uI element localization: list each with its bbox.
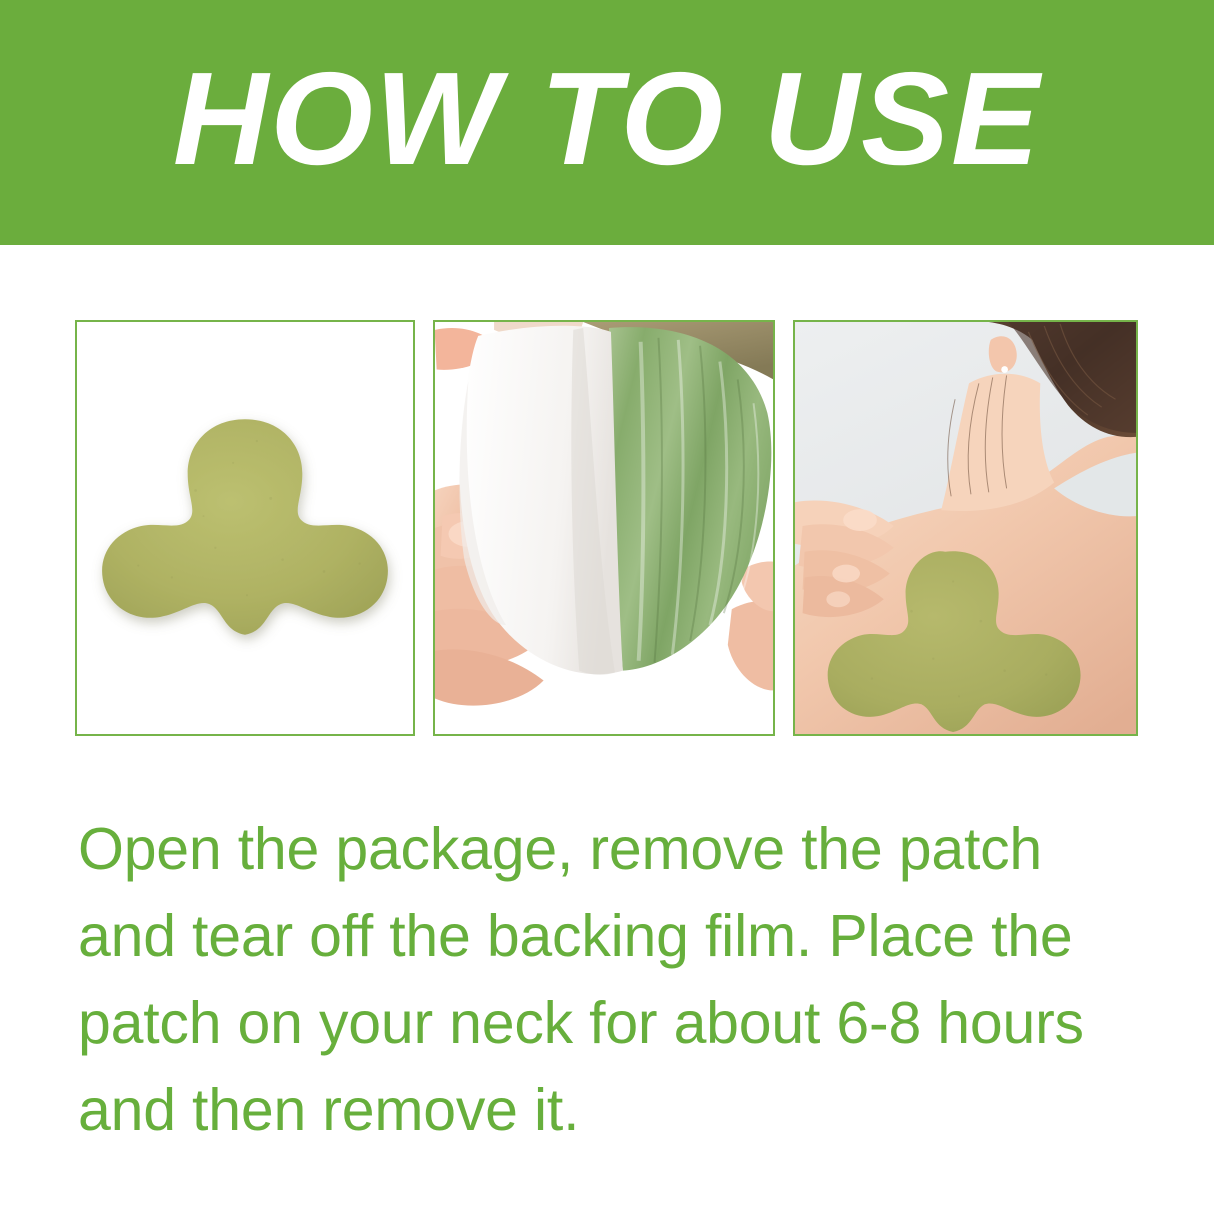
patch-product-image <box>77 322 413 734</box>
how-to-use-page: HOW TO USE <box>0 0 1214 1214</box>
instruction-panels <box>75 320 1138 736</box>
instruction-text: Open the package, remove the patch and t… <box>78 806 1138 1154</box>
patch-on-neck-image <box>795 322 1136 734</box>
panel-patch-applied-to-neck <box>793 320 1138 736</box>
peeling-film-image <box>435 322 773 734</box>
header-banner: HOW TO USE <box>0 0 1214 245</box>
panel-peeling-backing-film <box>433 320 775 736</box>
panel-patch-product-shot <box>75 320 415 736</box>
earring <box>1001 366 1008 373</box>
page-title: HOW TO USE <box>173 53 1041 185</box>
